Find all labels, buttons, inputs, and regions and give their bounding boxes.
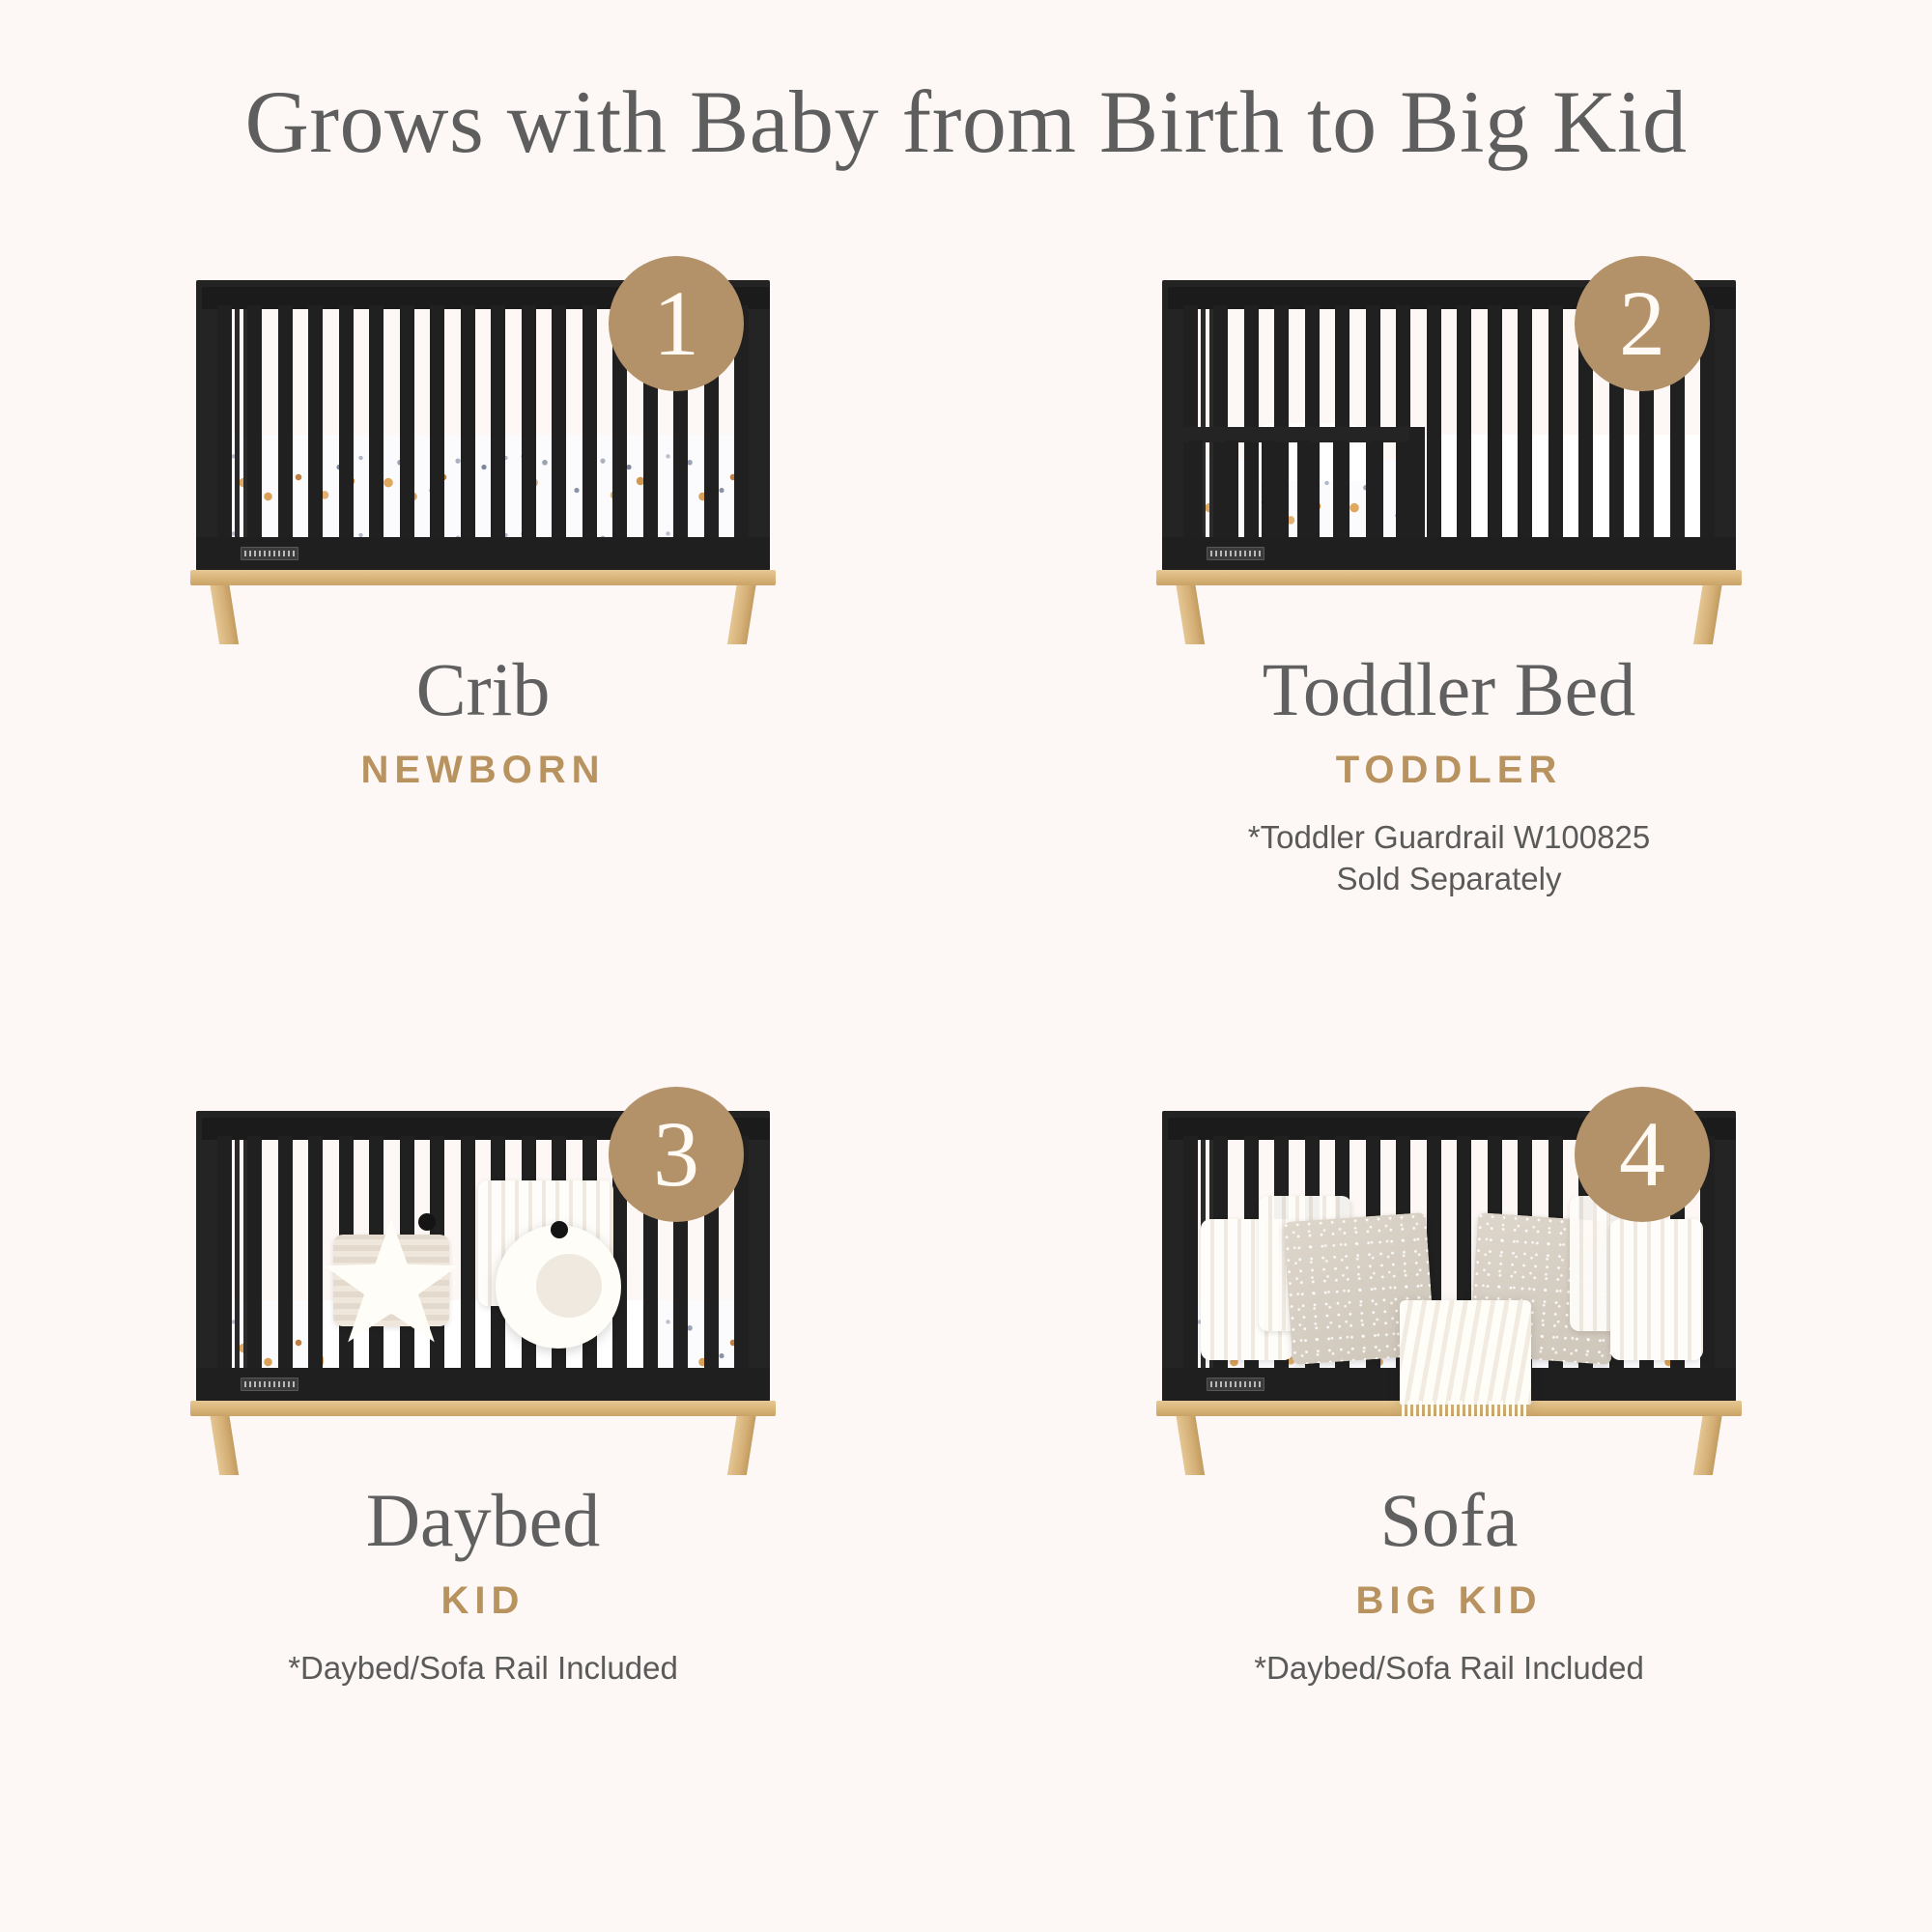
panel-title: Crib	[0, 652, 966, 727]
crib-post-left	[196, 301, 217, 551]
crib-post-left	[1162, 1132, 1183, 1381]
crib-post-right	[1715, 1132, 1736, 1381]
mattress	[223, 435, 745, 541]
panel-stage-label: NEWBORN	[0, 749, 966, 792]
panel-title: Toddler Bed	[966, 652, 1932, 727]
wood-base-rail	[1156, 570, 1742, 585]
brand-plate-icon	[1207, 547, 1264, 560]
slat	[1333, 440, 1347, 549]
panel-stage-label: BIG KID	[966, 1579, 1932, 1623]
wood-base-rail	[190, 1401, 776, 1416]
crib-post-right	[749, 301, 770, 551]
panel-caption: Daybed KID *Daybed/Sofa Rail Included	[0, 1483, 966, 1690]
guardrail-slats	[1189, 440, 1419, 549]
panel-stage-label: TODDLER	[966, 749, 1932, 792]
moon-cutout	[536, 1254, 602, 1318]
panel-title: Sofa	[966, 1483, 1932, 1558]
brand-plate-icon	[1207, 1378, 1264, 1391]
brand-plate-icon	[241, 547, 298, 560]
crib-leg-right	[727, 582, 756, 644]
panel-note: *Toddler Guardrail W100825 Sold Separate…	[966, 817, 1932, 900]
crib-post-left	[1162, 301, 1183, 551]
crib-leg-left	[1176, 582, 1205, 644]
panel-note: *Daybed/Sofa Rail Included	[0, 1648, 966, 1690]
slat	[1189, 440, 1203, 549]
slat	[1262, 440, 1275, 549]
crib-leg-right	[1693, 1413, 1722, 1475]
throw-blanket	[1400, 1300, 1531, 1405]
stage-badge-1: 1	[609, 256, 744, 391]
slat	[1225, 440, 1238, 549]
guardrail-post-right	[1409, 427, 1425, 549]
crib-leg-left	[210, 582, 239, 644]
brand-plate-icon	[241, 1378, 298, 1391]
crib-lower-frame	[1162, 537, 1736, 572]
crib-lower-frame	[196, 1368, 770, 1403]
crib-leg-right	[1693, 582, 1722, 644]
crib-leg-left	[210, 1413, 239, 1475]
panel-note: *Daybed/Sofa Rail Included	[966, 1648, 1932, 1690]
stage-badge-3: 3	[609, 1087, 744, 1222]
toddler-guardrail	[1183, 427, 1425, 549]
infographic-page: Grows with Baby from Birth to Big Kid 1	[0, 0, 1932, 1932]
crib-post-left	[196, 1132, 217, 1381]
crib-post-right	[749, 1132, 770, 1381]
slat	[1297, 440, 1311, 549]
ribbed-pillow-right	[1610, 1219, 1703, 1360]
panel-caption: Sofa BIG KID *Daybed/Sofa Rail Included	[966, 1483, 1932, 1690]
crib-side-slats	[217, 305, 256, 549]
moon-pompom-icon	[551, 1221, 568, 1238]
crib-lower-frame	[196, 537, 770, 572]
crib-leg-left	[1176, 1413, 1205, 1475]
panel-caption: Crib NEWBORN	[0, 652, 966, 817]
conversion-stage-grid: 1	[0, 0, 1932, 1932]
panel-caption: Toddler Bed TODDLER *Toddler Guardrail W…	[966, 652, 1932, 900]
crib-leg-right	[727, 1413, 756, 1475]
mattress-white	[1404, 435, 1713, 543]
throw-fringe	[1402, 1401, 1529, 1416]
stage-badge-4: 4	[1575, 1087, 1710, 1222]
panel-stage-label: KID	[0, 1579, 966, 1623]
stage-badge-2: 2	[1575, 256, 1710, 391]
slat	[1370, 440, 1383, 549]
star-pompom-icon	[418, 1213, 436, 1231]
crib-post-right	[1715, 301, 1736, 551]
crib-side-slats	[217, 1136, 256, 1379]
panel-title: Daybed	[0, 1483, 966, 1558]
wood-base-rail	[190, 570, 776, 585]
